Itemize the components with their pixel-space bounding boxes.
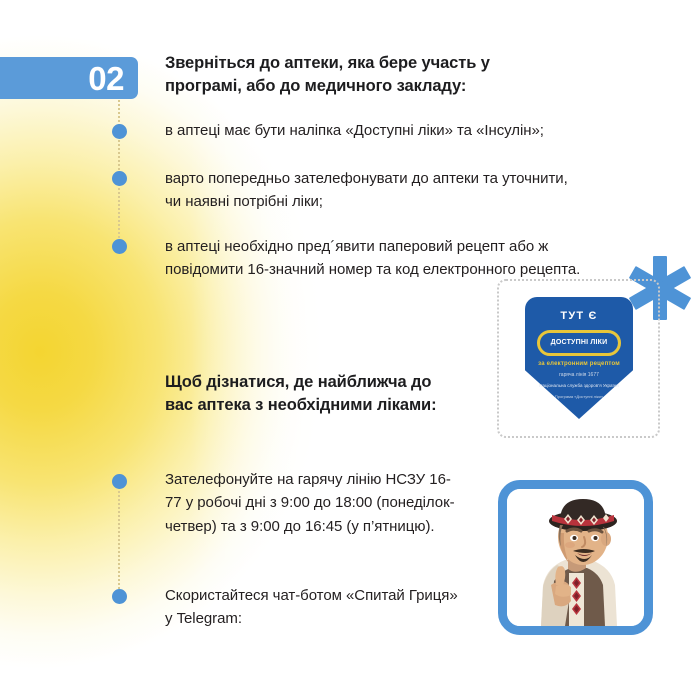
bullet-marker-3 (112, 239, 127, 254)
telegram-bot-mascot-card (498, 480, 653, 635)
section2-heading: Щоб дізнатися, де найближча до вас аптек… (165, 371, 455, 417)
step-bullet-text-2: варто попередньо зателефонувати до аптек… (165, 167, 585, 214)
bullet-marker-4 (112, 474, 127, 489)
bullet-marker-2 (112, 171, 127, 186)
shield-pill-badge: ДОСТУПНІ ЛІКИ (537, 330, 621, 356)
step-heading: Зверніться до аптеки, яка бере участь у … (165, 52, 565, 98)
bullet-marker-1 (112, 124, 127, 139)
step-bullet-text-1: в аптеці має бути наліпка «Доступні ліки… (165, 119, 585, 142)
section2-bullet-text-1: Зателефонуйте на гарячу лінію НСЗУ 16-77… (165, 468, 465, 538)
shield-subtitle-4: Програма «Доступні ліки» (525, 394, 633, 399)
step-bullet-text-3: в аптеці необхідно пред´явити паперовий … (165, 235, 585, 282)
shield-top-label: ТУТ Є (525, 310, 633, 322)
bullet-marker-5 (112, 589, 127, 604)
pharmacy-shield-emblem: ТУТ Є ДОСТУПНІ ЛІКИ за електронним рецеп… (525, 297, 633, 419)
dotted-connector-line-bottom (118, 484, 120, 596)
shield-subtitle-2: гаряча лінія 1677 (525, 372, 633, 378)
step-number-label: 02 (88, 62, 124, 95)
shield-subtitle-3: Національна служба здоров’я України (525, 383, 633, 388)
shield-pill-label: ДОСТУПНІ ЛІКИ (540, 333, 618, 353)
shield-subtitle-1: за електронним рецептом (525, 361, 633, 367)
step-number-badge: 02 (0, 57, 138, 99)
section2-bullet-text-2: Скористайтеся чат-ботом «Спитай Гриця» у… (165, 584, 465, 631)
mascot-hryts-illustration (507, 489, 644, 626)
